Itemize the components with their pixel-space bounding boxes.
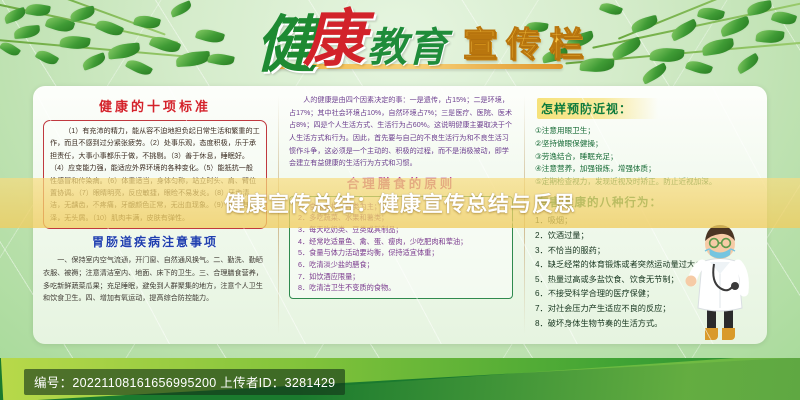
- list-item: 6．吃清淡少盐的膳食；: [298, 259, 506, 271]
- list-item: ②坚持做眼保健操；: [535, 138, 757, 150]
- list-item: 7．如饮酒应限量；: [298, 271, 506, 283]
- doctor-illustration: [677, 214, 763, 344]
- left-heading-gi-notes: 胃肠道疾病注意事项: [43, 233, 267, 250]
- list-item: ①注意用眼卫生；: [535, 125, 757, 137]
- left-gi-notes-text: 一、保持室内空气流通，开门窗、自然通风换气。二、勤洗、勤晒衣服、被褥；注意清洁室…: [43, 254, 267, 305]
- poster-title: 健 康 教育 宣 传 栏: [255, 8, 585, 84]
- screenshot-root: 健 康 教育 宣 传 栏 健康的十项标准 （1）有充沛的精力，能从容不迫地担负起…: [0, 0, 800, 400]
- list-item: 4．经常吃适量鱼、禽、蛋、瘦肉，少吃肥肉和荤油；: [298, 236, 506, 248]
- list-item: 5．食量与体力活动要均衡，保持适宜体重；: [298, 247, 506, 259]
- right-heading-myopia-prevention: 怎样预防近视：: [537, 98, 658, 119]
- title-box-char-3: 栏: [546, 26, 586, 64]
- overlay-title-band: 健康宣传总结：健康宣传总结与反思: [0, 178, 800, 228]
- overlay-title-text: 健康宣传总结：健康宣传总结与反思: [224, 188, 576, 218]
- list-item: ④注意营养，加强锻炼，增强体质；: [535, 163, 757, 175]
- title-sub-jiaoyu: 教育: [367, 28, 447, 68]
- left-heading-ten-standards: 健康的十项标准: [43, 96, 267, 115]
- list-item: 8．吃清洁卫生不变质的食物。: [298, 282, 506, 294]
- middle-four-factors-text: 人的健康是由四个因素决定的事：一是遗传，占15%；二是环境，占17%；其中社会环…: [289, 94, 513, 170]
- title-box-char-2: 传: [503, 26, 543, 64]
- footer-caption: 编号：20221108161656995200 上传者ID：3281429: [24, 369, 345, 395]
- list-item: ③劳逸结合，睡眠充足；: [535, 151, 757, 163]
- title-char-kang: 康: [303, 8, 365, 70]
- title-box-xuanchuanlan: 宣 传 栏: [460, 26, 586, 64]
- footer-bar: 编号：20221108161656995200 上传者ID：3281429: [0, 358, 800, 400]
- title-box-char-1: 宣: [460, 26, 500, 64]
